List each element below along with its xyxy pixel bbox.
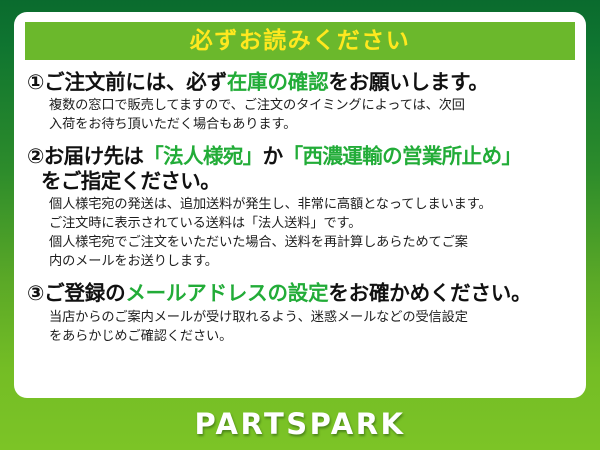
item-3-number: ③ bbox=[27, 281, 44, 305]
item-1-sub-line-1: 複数の窓口で販売してますので、ご注文のタイミングによっては、次回 bbox=[49, 96, 573, 115]
item-3-head-part-3: をお確かめください。 bbox=[328, 281, 531, 305]
notice-item-2: ②お届け先は「法人様宛」か「西濃運輸の営業所止め」をご指定ください。 個人様宅宛… bbox=[27, 144, 573, 271]
notice-item-1: ①ご注文前には、必ず在庫の確認をお願いします。 複数の窓口で販売してますので、ご… bbox=[27, 70, 573, 134]
item-2-number: ② bbox=[27, 144, 44, 168]
item-2-sub-line-2: ご注文時に表示されている送料は「法人送料」です。 bbox=[49, 214, 573, 233]
item-1-head-part-3: をお願いします。 bbox=[328, 70, 488, 94]
item-3-sub-line-2: をあらかじめご確認ください。 bbox=[49, 327, 573, 346]
item-2-head-highlight-2: 「西濃運輸の営業所止め」 bbox=[283, 144, 522, 168]
notice-item-2-subtext: 個人様宅宛の発送は、追加送料が発生し、非常に高額となってしまいます。 ご注文時に… bbox=[27, 195, 573, 272]
brand-logo-text: PARTSPARK bbox=[194, 410, 405, 439]
notice-items-list: ①ご注文前には、必ず在庫の確認をお願いします。 複数の窓口で販売してますので、ご… bbox=[25, 70, 575, 346]
notice-card: 必ずお読みください ①ご注文前には、必ず在庫の確認をお願いします。 複数の窓口で… bbox=[14, 12, 586, 398]
notice-item-3-subtext: 当店からのご案内メールが受け取れるよう、迷惑メールなどの受信設定 をあらかじめご… bbox=[27, 308, 573, 346]
item-3-head-highlight: メールアドレスの設定 bbox=[125, 281, 328, 305]
item-2-sub-line-1: 個人様宅宛の発送は、追加送料が発生し、非常に高額となってしまいます。 bbox=[49, 195, 573, 214]
item-2-head-highlight-1: 「法人様宛」 bbox=[143, 144, 262, 168]
notice-item-1-subtext: 複数の窓口で販売してますので、ご注文のタイミングによっては、次回 入荷をお待ち頂… bbox=[27, 96, 573, 134]
item-3-sub-line-1: 当店からのご案内メールが受け取れるよう、迷惑メールなどの受信設定 bbox=[49, 308, 573, 327]
item-1-head-highlight: 在庫の確認 bbox=[227, 70, 329, 94]
item-2-sub-line-4: 内のメールをお送りします。 bbox=[49, 252, 573, 271]
item-3-head-part-1: ご登録の bbox=[44, 281, 125, 305]
header-banner: 必ずお読みください bbox=[25, 22, 575, 60]
notice-item-2-heading: ②お届け先は「法人様宛」か「西濃運輸の営業所止め」をご指定ください。 bbox=[27, 144, 573, 192]
item-2-head-part-1: お届け先は bbox=[44, 144, 144, 168]
item-1-sub-line-2: 入荷をお待ち頂いただく場合もあります。 bbox=[49, 115, 573, 134]
item-2-head-line-2: をご指定ください。 bbox=[27, 169, 573, 193]
notice-item-3-heading: ③ご登録のメールアドレスの設定をお確かめください。 bbox=[27, 281, 573, 305]
item-1-head-part-1: ご注文前には、必ず bbox=[44, 70, 227, 94]
notice-item-1-heading: ①ご注文前には、必ず在庫の確認をお願いします。 bbox=[27, 70, 573, 94]
page-title: 必ずお読みください bbox=[190, 30, 411, 53]
notice-item-3: ③ご登録のメールアドレスの設定をお確かめください。 当店からのご案内メールが受け… bbox=[27, 281, 573, 345]
item-2-head-part-3: か bbox=[263, 144, 283, 168]
footer-bar: PARTSPARK bbox=[0, 398, 600, 450]
notice-poster: 必ずお読みください ①ご注文前には、必ず在庫の確認をお願いします。 複数の窓口で… bbox=[0, 0, 600, 450]
item-1-number: ① bbox=[27, 70, 44, 94]
item-2-sub-line-3: 個人様宅宛でご注文をいただいた場合、送料を再計算しあらためてご案 bbox=[49, 233, 573, 252]
